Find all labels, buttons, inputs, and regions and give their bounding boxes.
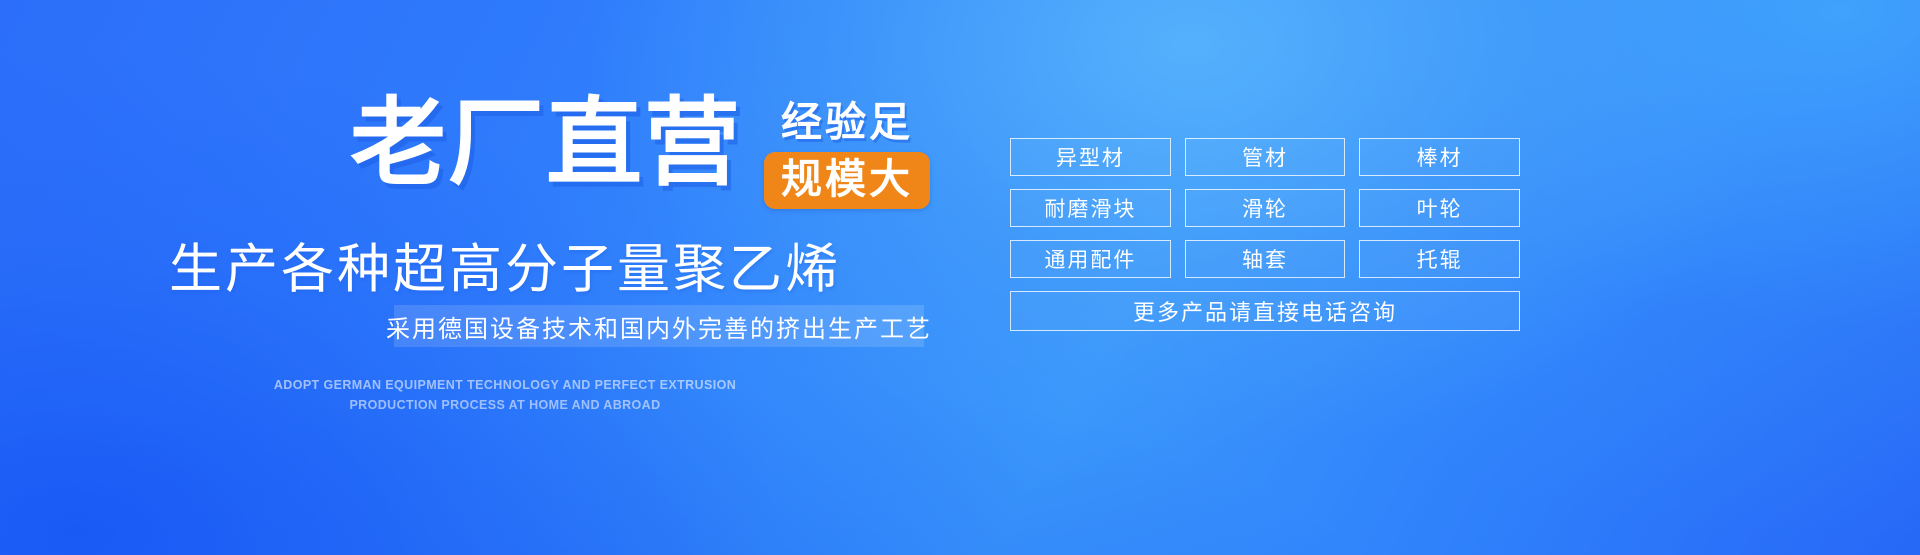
subtitle: 生产各种超高分子量聚乙烯 [0, 240, 1010, 299]
headline-badges: 经验足 规模大 [764, 100, 930, 209]
product-button-yelun[interactable]: 叶轮 [1359, 189, 1520, 227]
banner-left-content: 老厂直营 经验足 规模大 生产各种超高分子量聚乙烯 采用德国设备技术和国内外完善… [0, 0, 1010, 555]
product-row-2: 耐磨滑块 滑轮 叶轮 [1010, 189, 1520, 227]
product-button-bangcai[interactable]: 棒材 [1359, 138, 1520, 176]
product-button-tongyongpeijian[interactable]: 通用配件 [1010, 240, 1171, 278]
badge-scale: 规模大 [764, 152, 930, 209]
product-button-hualun[interactable]: 滑轮 [1185, 189, 1346, 227]
product-button-zhoutao[interactable]: 轴套 [1185, 240, 1346, 278]
english-caption-line2: PRODUCTION PROCESS AT HOME AND ABROAD [0, 395, 1010, 415]
badge-experience: 经验足 [781, 100, 913, 145]
product-button-naimohuakuai[interactable]: 耐磨滑块 [1010, 189, 1171, 227]
product-row-3: 通用配件 轴套 托辊 [1010, 240, 1520, 278]
headline-group: 老厂直营 经验足 规模大 [350, 96, 930, 209]
english-caption-line1: ADOPT GERMAN EQUIPMENT TECHNOLOGY AND PE… [0, 375, 1010, 395]
promo-banner: 老厂直营 经验足 规模大 生产各种超高分子量聚乙烯 采用德国设备技术和国内外完善… [0, 0, 1920, 555]
product-button-yixingcai[interactable]: 异型材 [1010, 138, 1171, 176]
english-caption: ADOPT GERMAN EQUIPMENT TECHNOLOGY AND PE… [0, 375, 1010, 416]
product-button-guancai[interactable]: 管材 [1185, 138, 1346, 176]
more-products-contact-button[interactable]: 更多产品请直接电话咨询 [1010, 291, 1520, 331]
tagline-text: 采用德国设备技术和国内外完善的挤出生产工艺 [386, 309, 932, 344]
product-row-1: 异型材 管材 棒材 [1010, 138, 1520, 176]
product-button-tuogun[interactable]: 托辊 [1359, 240, 1520, 278]
tagline-ribbon: 采用德国设备技术和国内外完善的挤出生产工艺 [394, 305, 924, 347]
page-title: 老厂直营 [350, 96, 742, 192]
product-category-panel: 异型材 管材 棒材 耐磨滑块 滑轮 叶轮 通用配件 轴套 托辊 更多产品请直接电… [1010, 138, 1520, 331]
